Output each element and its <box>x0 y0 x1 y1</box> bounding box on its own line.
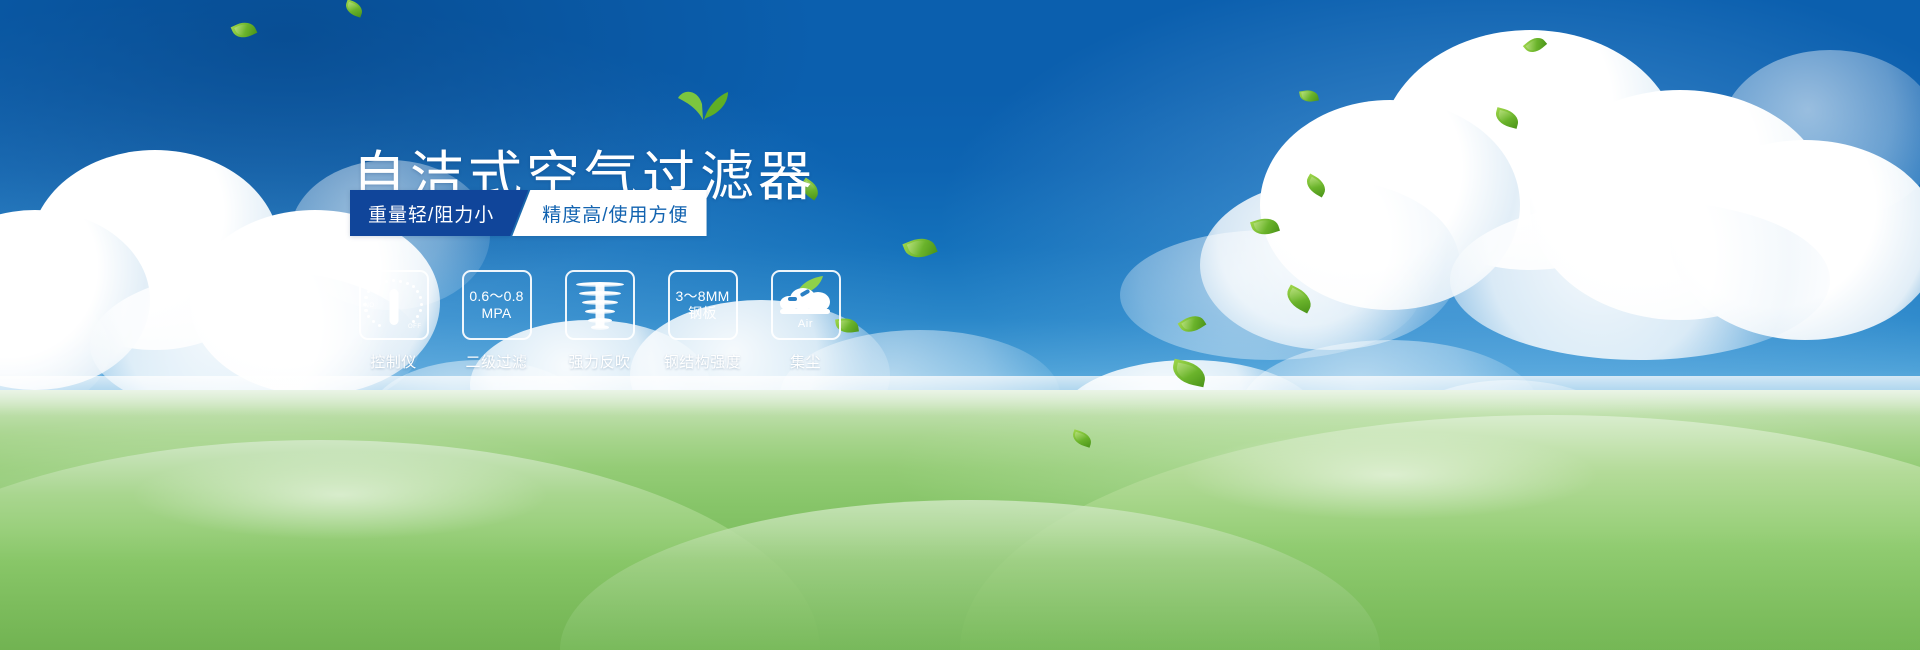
feature-item-back-blowing[interactable]: 强力反吹 <box>558 270 641 372</box>
feature-item-controller[interactable]: NO OFF 控制仪 <box>352 270 435 372</box>
feature-item-steel-structure[interactable]: 3～8MM 钢板 钢结构强度 <box>661 270 744 372</box>
feature-caption-back-blowing: 强力反吹 <box>568 351 630 372</box>
gauge-label-off: OFF <box>408 324 422 330</box>
feature-icon-row: NO OFF 控制仪 0.6～0.8 MPA 二级过滤 <box>352 270 847 372</box>
feature-tabs: 重量轻/阻力小 精度高/使用方便 <box>350 190 707 236</box>
feature-box-back-blowing <box>565 270 635 340</box>
feature-box-dust-collection: Air <box>771 270 841 340</box>
banner-content: 自洁式空气过滤器 重量轻/阻力小 精度高/使用方便 <box>0 0 1920 650</box>
pressure-value-line2: MPA <box>469 305 523 322</box>
sprout-leaf-icon <box>676 86 730 120</box>
pressure-value-line1: 0.6～0.8 <box>469 288 523 305</box>
feature-item-two-stage-filtration[interactable]: 0.6～0.8 MPA 二级过滤 <box>455 270 538 372</box>
cone-filter-icon <box>575 280 625 330</box>
feature-box-pressure: 0.6～0.8 MPA <box>462 270 532 340</box>
product-hero-banner: 自洁式空气过滤器 重量轻/阻力小 精度高/使用方便 <box>0 0 1920 650</box>
feature-caption-two-stage-filtration: 二级过滤 <box>465 351 527 372</box>
tab-lightweight-low-resistance[interactable]: 重量轻/阻力小 <box>350 190 528 236</box>
feature-box-controller: NO OFF <box>359 270 429 340</box>
tab-high-precision-easy-use[interactable]: 精度高/使用方便 <box>512 190 706 236</box>
gauge-label-no: NO <box>365 303 375 309</box>
feature-caption-steel-structure: 钢结构强度 <box>664 351 742 372</box>
air-label: Air <box>778 318 834 330</box>
feature-caption-dust-collection: 集尘 <box>790 351 821 372</box>
feature-item-dust-collection[interactable]: Air 集尘 <box>764 270 847 372</box>
feature-caption-controller: 控制仪 <box>370 351 417 372</box>
cloud-air-icon: Air <box>778 282 834 328</box>
steel-plate-line2: 钢板 <box>676 305 730 322</box>
steel-plate-text-icon: 3～8MM 钢板 <box>674 288 732 321</box>
gauge-icon: NO OFF <box>366 279 422 331</box>
feature-box-steel-plate: 3～8MM 钢板 <box>668 270 738 340</box>
steel-plate-line1: 3～8MM <box>676 288 730 305</box>
pressure-text-icon: 0.6～0.8 MPA <box>467 288 525 321</box>
